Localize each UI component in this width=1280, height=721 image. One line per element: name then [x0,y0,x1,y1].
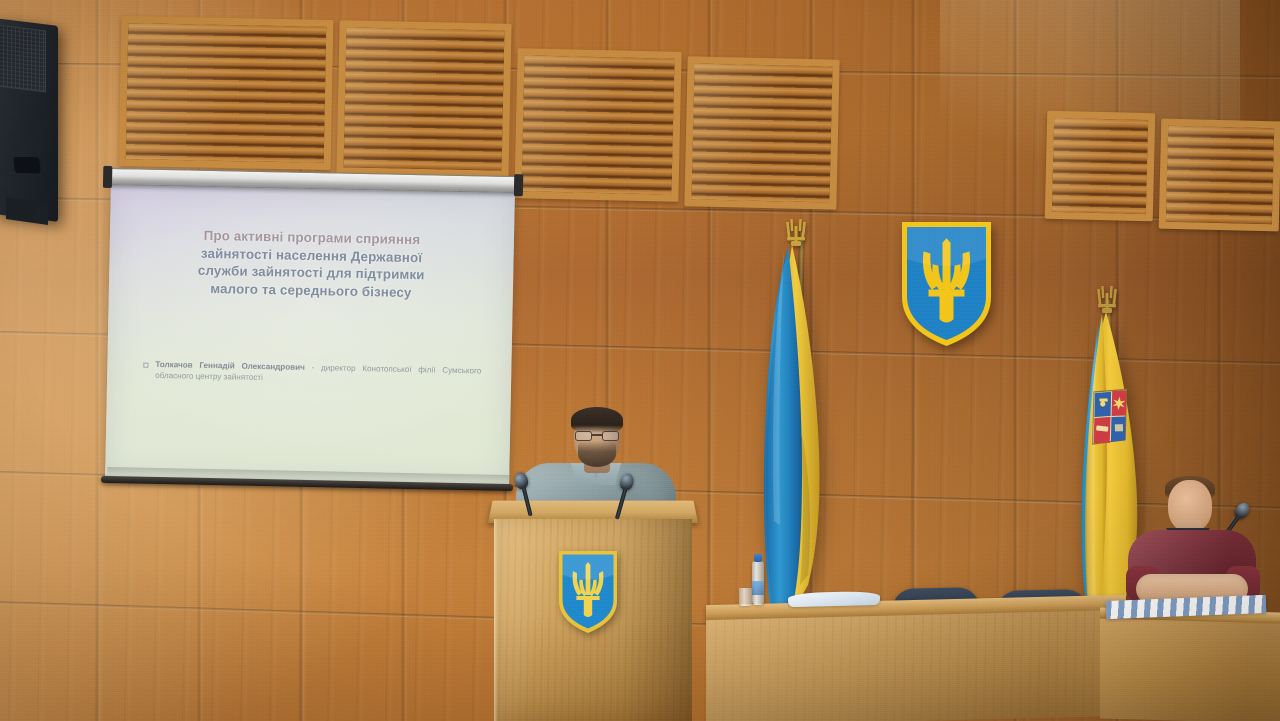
bottle-cap [754,554,762,562]
bottle-label [752,581,764,595]
roller-end-cap [103,166,112,188]
presidium-table-right-section [1100,610,1280,721]
gold-trident-finial-icon [783,218,809,248]
wall-louver-grille [1045,111,1156,222]
papers-on-table [788,591,880,607]
slide-bullet-separator: - [305,363,321,372]
ukraine-coat-of-arms-wall [899,219,994,349]
beard [578,441,616,467]
pa-loudspeaker [0,18,58,222]
lens-left [575,431,592,441]
table-front-panel [1100,618,1280,721]
ukraine-coat-of-arms-podium [557,549,619,635]
wall-louver-grille [514,48,681,202]
roller-end-cap [514,174,523,196]
eyeglasses-icon [574,431,620,441]
slide-title: Про активні програми сприяння зайнятості… [139,226,484,303]
podium-shadow [620,519,692,721]
projection-screen: Про активні програми сприяння зайнятості… [101,168,519,502]
speaker-handle [13,157,41,174]
presidium-table [706,600,1126,721]
seated-participant [1128,478,1258,613]
projected-slide: Про активні програми сприяння зайнятості… [105,183,515,487]
wall-louver-grille [119,16,334,170]
wall-louver-grille [336,20,511,178]
wall-louver-grille [684,56,839,209]
water-bottle [752,561,764,605]
speaker-grille-icon [0,25,46,93]
lens-right [602,431,619,441]
ukrainian-national-flag [762,245,830,620]
hair [571,407,623,433]
podium-edge-highlight [494,519,498,721]
conference-hall-photo: Про активні програми сприяння зайнятості… [0,0,1280,721]
glasses-bridge [592,434,602,436]
drinking-glass [739,588,752,606]
bullet-square-icon [143,363,148,368]
wall-louver-grille [1159,119,1280,232]
table-front-panel [706,610,1126,721]
